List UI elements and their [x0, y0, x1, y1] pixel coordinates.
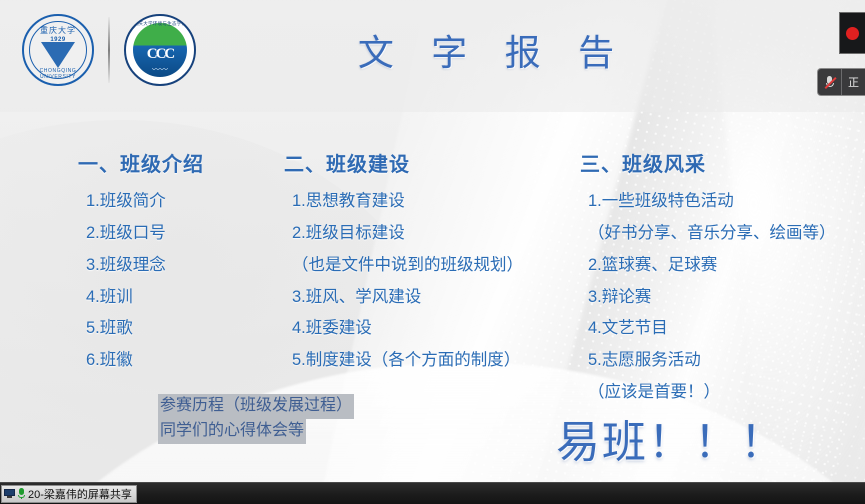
mute-toggle-button[interactable] [818, 69, 842, 95]
column-item: 1.班级简介 [78, 186, 204, 218]
windows-taskbar: 20-梁嘉伟的屏幕共享 [0, 482, 865, 504]
column-subitem: （好书分享、音乐分享、绘画等） [580, 218, 836, 250]
meeting-floating-toolbar[interactable]: 正 [817, 68, 865, 96]
column-item: 3.辩论赛 [580, 282, 836, 314]
column-item: 5.制度建设（各个方面的制度） [284, 345, 523, 377]
taskbar-screen-share-button[interactable]: 20-梁嘉伟的屏幕共享 [1, 485, 137, 503]
record-dot-icon [846, 27, 859, 40]
column-item: 4.班训 [78, 282, 204, 314]
column-item: 4.班委建设 [284, 313, 523, 345]
column-item: 3.班级理念 [78, 250, 204, 282]
presentation-slide: 重庆大学 1929 CHONGQING UNIVERSITY CCC 〰〰 重庆… [0, 0, 865, 482]
column-subitem: （也是文件中说到的班级规划） [284, 250, 523, 282]
column-item: 3.班风、学风建设 [284, 282, 523, 314]
note-line: 同学们的心得体会等 [158, 419, 306, 444]
column-item: 2.篮球赛、足球赛 [580, 250, 836, 282]
screen-share-view: 重庆大学 1929 CHONGQING UNIVERSITY CCC 〰〰 重庆… [0, 0, 865, 504]
column-item: 5.志愿服务活动 [580, 345, 836, 377]
recording-indicator-tile[interactable] [839, 12, 865, 54]
outline-column-2: 二、班级建设 1.思想教育建设 2.班级目标建设 （也是文件中说到的班级规划） … [284, 148, 523, 377]
column-heading: 一、班级介绍 [78, 148, 204, 177]
column-item: 4.文艺节目 [580, 313, 836, 345]
slide-emphasis-text: 易班！！！ [556, 406, 786, 470]
column-item: 2.班级目标建设 [284, 218, 523, 250]
outline-column-1: 一、班级介绍 1.班级简介 2.班级口号 3.班级理念 4.班训 5.班歌 6.… [78, 148, 204, 377]
column-item: 2.班级口号 [78, 218, 204, 250]
column-subitem: （应该是首要！） [580, 377, 836, 409]
outline-column-3: 三、班级风采 1.一些班级特色活动 （好书分享、音乐分享、绘画等） 2.篮球赛、… [580, 148, 836, 409]
column-item: 6.班徽 [78, 345, 204, 377]
note-line: 参赛历程（班级发展过程） [158, 394, 354, 419]
toolbar-next-item[interactable]: 正 [842, 69, 865, 95]
column-heading: 二、班级建设 [284, 148, 523, 177]
column-item: 1.思想教育建设 [284, 186, 523, 218]
column-heading: 三、班级风采 [580, 148, 836, 177]
highlighted-note-block: 参赛历程（班级发展过程） 同学们的心得体会等 [158, 394, 354, 444]
column-item: 5.班歌 [78, 313, 204, 345]
monitor-icon [4, 489, 15, 499]
column-item: 1.一些班级特色活动 [580, 186, 836, 218]
microphone-icon [17, 488, 26, 499]
microphone-muted-icon [824, 75, 835, 90]
taskbar-button-label: 20-梁嘉伟的屏幕共享 [28, 486, 132, 502]
slide-title: 文 字 报 告 [0, 24, 865, 76]
